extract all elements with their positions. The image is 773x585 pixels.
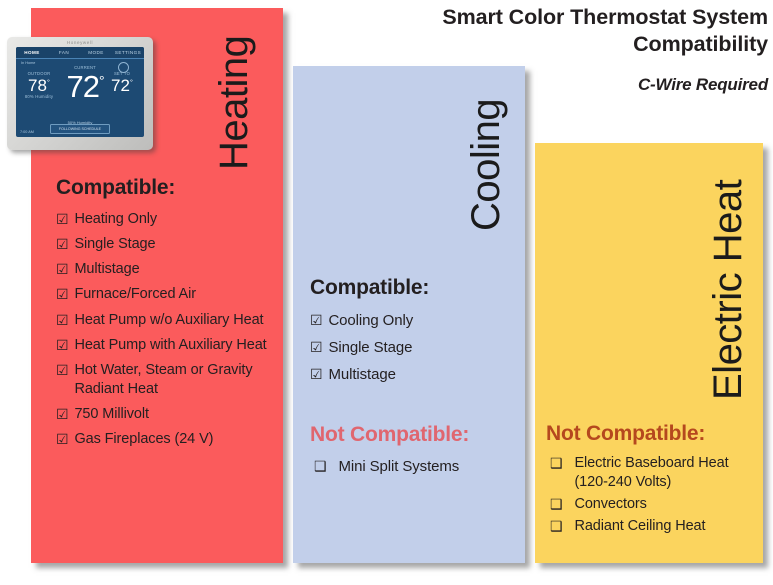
outdoor-temp-number: 78 — [28, 76, 47, 95]
column-title-electric-heat: Electric Heat — [708, 180, 748, 400]
list-heating-compatible: Heating Only Single Stage Multistage Fur… — [56, 210, 271, 455]
checkbox-checked-icon — [56, 235, 68, 253]
thermostat-nav-settings[interactable]: SETTINGS — [112, 50, 144, 55]
list-item: Furnace/Forced Air — [56, 285, 271, 304]
checkbox-empty-icon — [550, 454, 562, 472]
setpoint-temp-number: 72 — [111, 76, 130, 95]
thermostat-nav-fan[interactable]: FAN — [48, 50, 80, 55]
thermostat-outdoor-sub: 80% Humidity — [20, 94, 58, 100]
list-cooling-compatible: Cooling Only Single Stage Multistage — [310, 311, 510, 391]
heading-cooling-compatible: Compatible: — [310, 276, 429, 300]
thermostat-device-image: Honeywell HOME FAN MODE SETTINGS In Home… — [7, 37, 153, 150]
checkbox-checked-icon — [56, 210, 68, 228]
checkbox-checked-icon — [56, 311, 68, 329]
thermostat-nav-bar: HOME FAN MODE SETTINGS — [16, 47, 144, 59]
checkbox-checked-icon — [56, 430, 68, 448]
checkbox-empty-icon — [314, 457, 326, 475]
thermostat-brand-label: Honeywell — [7, 40, 153, 45]
column-title-heating: Heating — [214, 36, 254, 170]
list-item: Single Stage — [56, 235, 271, 254]
thermostat-setpoint-reading[interactable]: SET TO 72° — [103, 71, 141, 94]
thermostat-time-label: 7:00 AM — [20, 130, 34, 134]
thermostat-schedule-button[interactable]: FOLLOWING SCHEDULE — [50, 124, 110, 134]
thermostat-setpoint-value: 72° — [103, 77, 141, 94]
checkbox-checked-icon — [310, 311, 322, 329]
checkbox-checked-icon — [56, 361, 68, 379]
list-item: Gas Fireplaces (24 V) — [56, 430, 271, 449]
list-item: Cooling Only — [310, 311, 510, 331]
column-title-cooling: Cooling — [466, 99, 506, 231]
list-item: Mini Split Systems — [314, 457, 514, 477]
checkbox-checked-icon — [56, 285, 68, 303]
checkbox-empty-icon — [550, 517, 562, 535]
heading-electric-heat-not-compatible: Not Compatible: — [546, 422, 705, 446]
heading-heating-compatible: Compatible: — [56, 176, 175, 200]
page-title: Smart Color Thermostat System Compatibil… — [330, 4, 768, 59]
list-item: Radiant Ceiling Heat — [550, 517, 755, 536]
thermostat-nav-mode[interactable]: MODE — [80, 50, 112, 55]
thermostat-nav-home[interactable]: HOME — [16, 50, 48, 55]
list-item: Heat Pump with Auxiliary Heat — [56, 336, 271, 355]
list-item: Electric Baseboard Heat (120-240 Volts) — [550, 454, 755, 492]
thermostat-outdoor-reading: OUTDOOR 78° 80% Humidity — [20, 71, 58, 100]
checkbox-checked-icon — [310, 365, 322, 383]
checkbox-checked-icon — [310, 338, 322, 356]
list-item: Multistage — [56, 260, 271, 279]
list-cooling-not-compatible: Mini Split Systems — [314, 457, 514, 477]
list-item: Heating Only — [56, 210, 271, 229]
list-item: Hot Water, Steam or Gravity Radiant Heat — [56, 361, 271, 399]
thermostat-screen: HOME FAN MODE SETTINGS In Home OUTDOOR 7… — [16, 47, 144, 137]
degree-icon: ° — [130, 77, 133, 86]
checkbox-checked-icon — [56, 405, 68, 423]
checkbox-checked-icon — [56, 336, 68, 354]
list-item: Heat Pump w/o Auxiliary Heat — [56, 311, 271, 330]
checkbox-empty-icon — [550, 495, 562, 513]
list-item: Convectors — [550, 495, 755, 514]
thermostat-outdoor-value: 78° — [20, 77, 58, 94]
list-item: Single Stage — [310, 338, 510, 358]
list-item: 750 Millivolt — [56, 405, 271, 424]
list-item: Multistage — [310, 365, 510, 385]
checkbox-checked-icon — [56, 260, 68, 278]
thermostat-mode-label: In Home — [21, 61, 35, 65]
thermostat-screen-body: In Home OUTDOOR 78° 80% Humidity CURRENT… — [16, 59, 144, 137]
degree-icon: ° — [47, 77, 50, 86]
current-temp-number: 72 — [66, 69, 98, 104]
list-electric-heat-not-compatible: Electric Baseboard Heat (120-240 Volts) … — [550, 454, 755, 540]
heading-cooling-not-compatible: Not Compatible: — [310, 423, 469, 447]
